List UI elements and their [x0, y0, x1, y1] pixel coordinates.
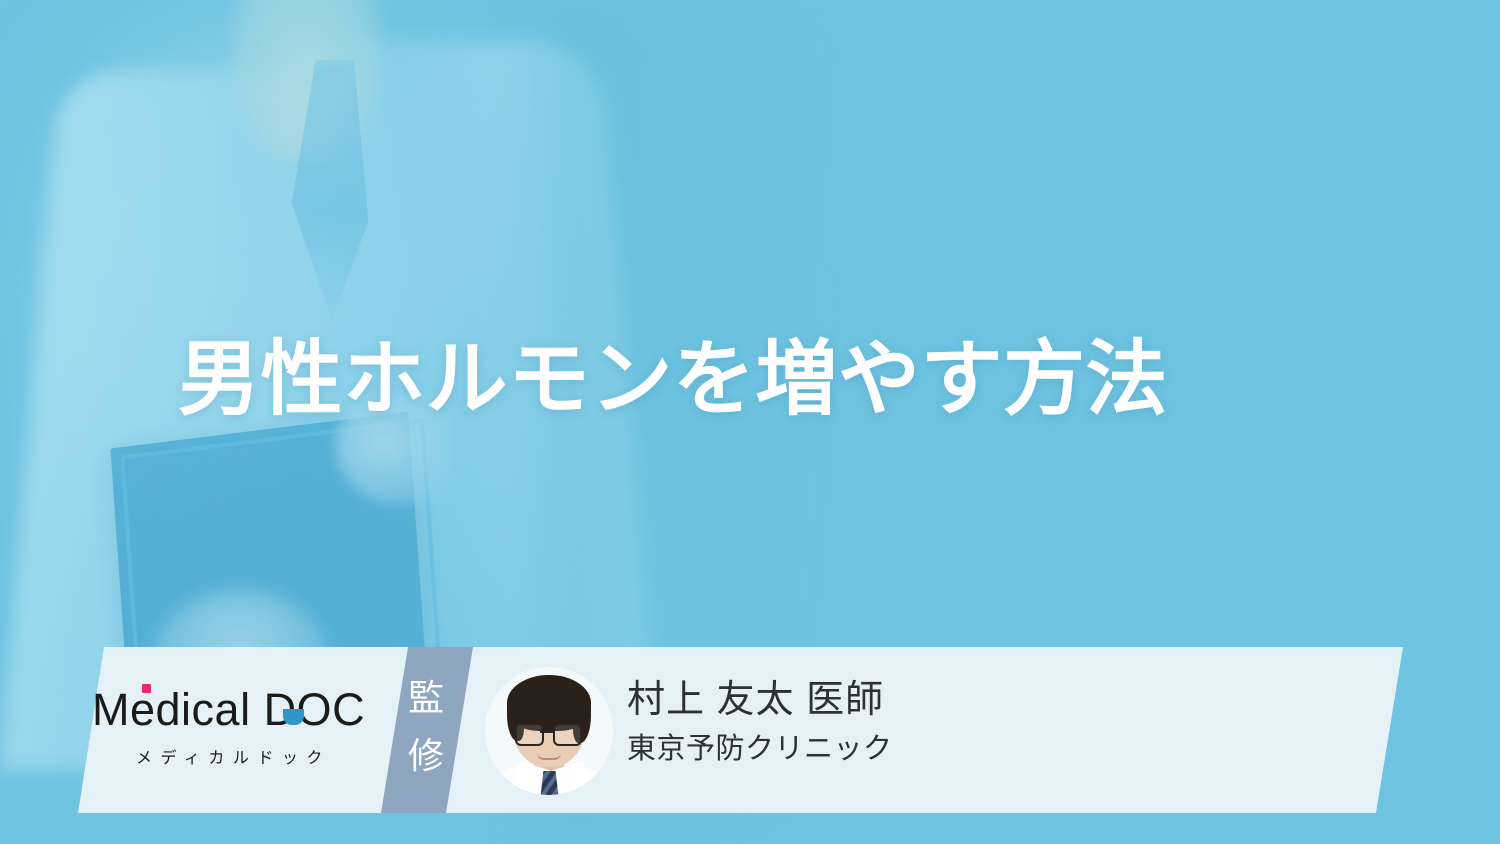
supervision-char-1: 監	[396, 669, 458, 727]
doctor-clinic: 東京予防クリニック	[627, 731, 893, 767]
supervision-badge-label: 監 修	[396, 669, 458, 785]
supervision-char-2: 修	[396, 727, 458, 785]
avatar-mouth-shape	[537, 753, 561, 760]
logo-wordmark: Medical DOC	[92, 687, 367, 732]
doctor-name: 村上 友太 医師	[627, 677, 893, 725]
avatar	[485, 667, 613, 795]
doctor-credit: 村上 友太 医師 東京予防クリニック	[627, 677, 893, 767]
avatar-glasses-right-icon	[553, 723, 582, 746]
logo-pink-dot-icon	[142, 684, 151, 693]
thumbnail-card: 男性ホルモンを増やす方法 Medical DOC メディカルドック 監 修	[0, 0, 1500, 844]
page-title: 男性ホルモンを増やす方法	[178, 336, 1378, 425]
logo-subtitle: メディカルドック	[92, 744, 367, 768]
avatar-glasses-left-icon	[515, 723, 544, 746]
logo-beaker-fill-icon	[283, 709, 304, 725]
credit-bar: Medical DOC メディカルドック 監 修	[0, 647, 1500, 813]
avatar-glasses-bridge-icon	[540, 730, 553, 733]
medical-doc-logo[interactable]: Medical DOC メディカルドック	[92, 687, 367, 768]
